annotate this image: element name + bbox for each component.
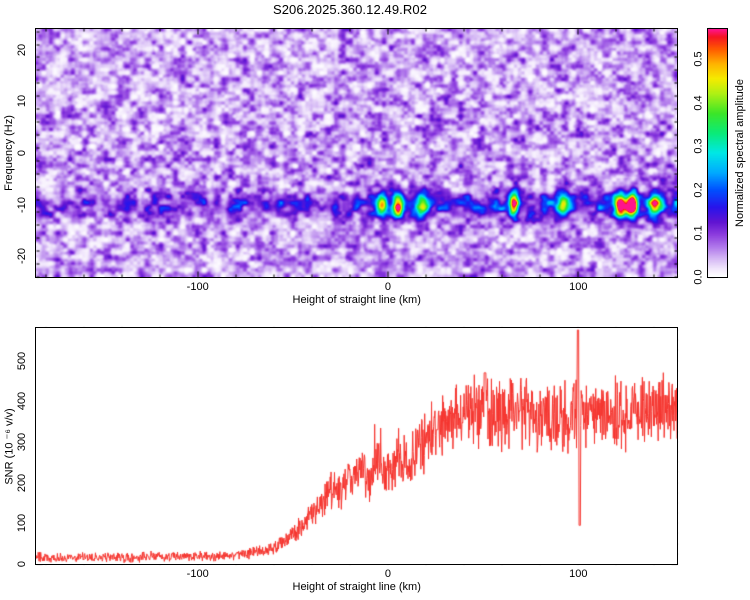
snr-line-series xyxy=(36,328,677,564)
snr-xtick-100: 100 xyxy=(569,568,587,580)
colorbar-tick-0.2: 0.2 xyxy=(692,182,704,197)
snr-ytick-300: 300 xyxy=(16,433,28,451)
snr-ytick-100: 100 xyxy=(16,514,28,532)
colorbar xyxy=(707,28,728,278)
spec-xtick-100: 100 xyxy=(569,281,587,293)
snr-y-axis-label: SNR (10 ⁻⁶ v/v) xyxy=(3,408,16,484)
spec-ytick-20: 20 xyxy=(16,44,28,56)
snr-panel xyxy=(35,327,678,565)
figure-root: S206.2025.360.12.49.R02 20 10 0 -10 -20 … xyxy=(0,0,750,600)
spec-xtick-m100: -100 xyxy=(187,281,209,293)
snr-ytick-0: 0 xyxy=(16,561,28,567)
snr-ytick-500: 500 xyxy=(16,351,28,369)
colorbar-gradient xyxy=(708,29,727,277)
colorbar-tick-0.0: 0.0 xyxy=(692,269,704,284)
spectrogram-image xyxy=(36,29,677,277)
snr-xtick-m100: -100 xyxy=(187,568,209,580)
spec-xtick-0: 0 xyxy=(385,281,391,293)
page-title: S206.2025.360.12.49.R02 xyxy=(0,2,700,17)
spectrogram-y-axis-label: Frequency (Hz) xyxy=(3,115,15,191)
spec-ytick-10: 10 xyxy=(16,95,28,107)
snr-xtick-0: 0 xyxy=(385,568,391,580)
spectrogram-panel xyxy=(35,28,678,278)
snr-ytick-400: 400 xyxy=(16,392,28,410)
colorbar-label: Normalized spectral amplitude xyxy=(734,79,746,227)
colorbar-tick-0.5: 0.5 xyxy=(692,52,704,67)
snr-ytick-200: 200 xyxy=(16,473,28,491)
snr-x-axis-label: Height of straight line (km) xyxy=(293,581,421,593)
spec-ytick-m10: -10 xyxy=(16,197,28,213)
spec-ytick-0: 0 xyxy=(16,150,28,156)
colorbar-tick-0.4: 0.4 xyxy=(692,95,704,110)
colorbar-tick-0.3: 0.3 xyxy=(692,139,704,154)
colorbar-tick-0.1: 0.1 xyxy=(692,226,704,241)
spectrogram-x-axis-label: Height of straight line (km) xyxy=(293,294,421,306)
spec-ytick-m20: -20 xyxy=(16,248,28,264)
